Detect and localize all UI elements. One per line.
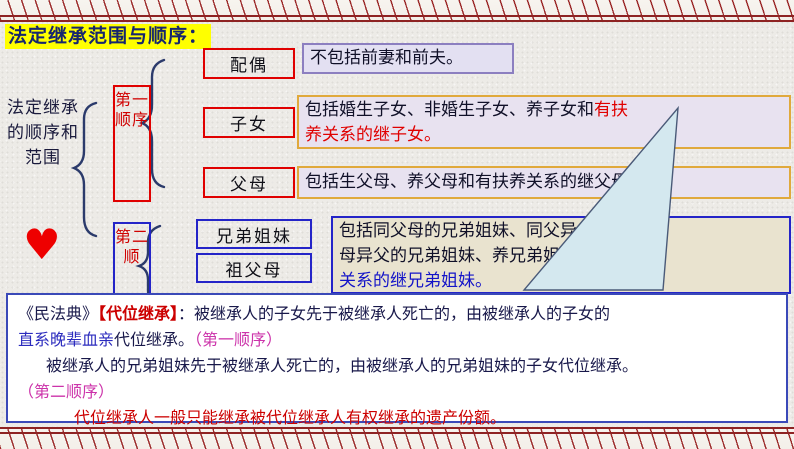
explanation-box-siblings: 包括同父母的兄弟姐妹、同父异母或者同 母异父的兄弟姐妹、养兄弟姐妹和有扶养 关系… [331, 216, 791, 294]
explanation-children-line1: 包括婚生子女、非婚生子女、养子女和有扶 [305, 98, 783, 123]
explanation-children-line1-black: 包括婚生子女、非婚生子女、养子女和 [305, 100, 594, 120]
relation-box-grandparents[interactable]: 祖父母 [196, 253, 312, 283]
statute-line-1-body: ：被继承人的子女先于被继承人死亡的，由被继承人的子女的 [178, 304, 610, 323]
relation-box-children[interactable]: 子女 [203, 107, 295, 138]
statute-line-5: 代位继承人一般只能继承被代位继承人有权继承的遗产份额。 [18, 405, 776, 431]
statute-order-note-first: （第一顺序） [194, 330, 282, 349]
explanation-box-parents: 包括生父母、养父母和有扶养关系的继父母。 [297, 166, 791, 199]
page-title: 法定继承范围与顺序： [5, 24, 211, 49]
statute-term-tag: 【代位继承】 [98, 304, 178, 323]
relation-box-siblings[interactable]: 兄弟姐妹 [196, 219, 312, 249]
statute-line-2-blue: 直系晚辈血亲 [18, 330, 114, 349]
top-decorative-band [0, 0, 794, 22]
explanation-siblings-line2-blue: 有扶养 [594, 246, 645, 266]
explanation-siblings-line1: 包括同父母的兄弟姐妹、同父异母或者同 [339, 219, 783, 244]
relation-box-spouse[interactable]: 配偶 [203, 48, 295, 79]
statute-line-1: 《民法典》【代位继承】：被继承人的子女先于被继承人死亡的，由被继承人的子女的 [18, 301, 776, 327]
statute-code-name: 《民法典》 [18, 304, 98, 323]
explanation-siblings-line3: 关系的继兄弟姐妹。 [339, 269, 783, 294]
explanation-siblings-line2: 母异父的兄弟姐妹、养兄弟姐妹和有扶养 [339, 244, 783, 269]
statute-panel: 《民法典》【代位继承】：被继承人的子女先于被继承人死亡的，由被继承人的子女的 直… [6, 293, 788, 423]
explanation-children-line2: 养关系的继子女。 [305, 123, 783, 148]
statute-line-2-body: 代位继承。 [114, 330, 194, 349]
statute-line-2: 直系晚辈血亲代位继承。（第一顺序） [18, 327, 776, 353]
statute-line-3: 被继承人的兄弟姐妹先于被继承人死亡的，由被继承人的兄弟姐妹的子女代位继承。 [18, 353, 776, 379]
explanation-box-spouse: 不包括前妻和前夫。 [302, 43, 514, 74]
explanation-children-line1-red: 有扶 [594, 100, 628, 120]
heart-icon: ♥ [20, 225, 64, 267]
order-box-first[interactable]: 第一顺序 [113, 85, 151, 202]
relation-box-parents[interactable]: 父母 [203, 167, 295, 198]
explanation-spouse-text: 不包括前妻和前夫。 [310, 46, 463, 71]
statute-order-note-second: （第二顺序） [18, 379, 776, 405]
explanation-box-children: 包括婚生子女、非婚生子女、养子女和有扶 养关系的继子女。 [297, 95, 791, 149]
explanation-siblings-line2-black: 母异父的兄弟姐妹、养兄弟姐妹和 [339, 246, 594, 266]
explanation-parents-text: 包括生父母、养父母和有扶养关系的继父母。 [305, 170, 645, 195]
left-root-label: 法定继承的顺序和范围 [4, 96, 82, 171]
